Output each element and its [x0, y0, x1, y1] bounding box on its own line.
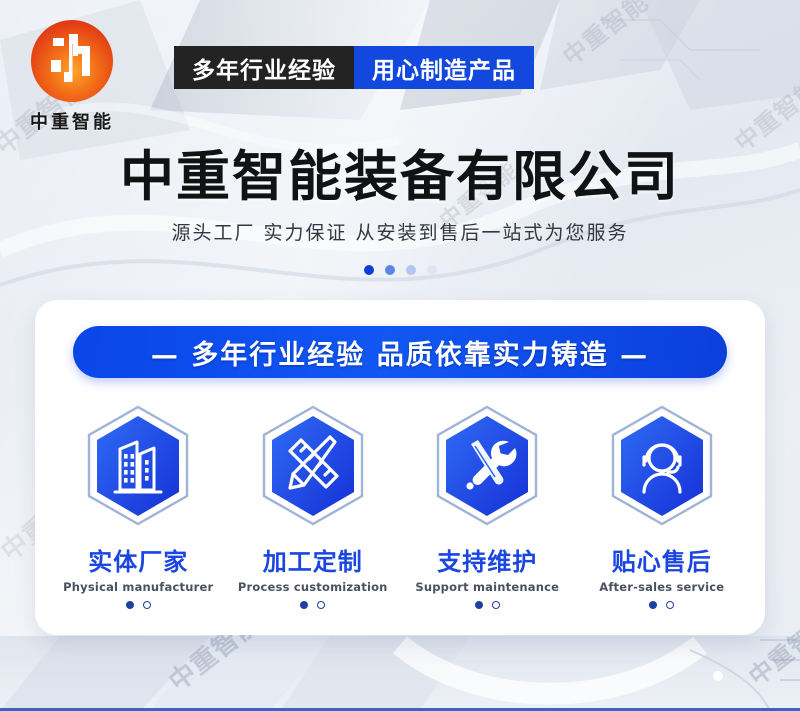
feature-icon-hex — [257, 404, 369, 530]
badge-experience[interactable]: 多年行业经验 — [174, 46, 354, 89]
feature-subtitle: Support maintenance — [402, 580, 572, 594]
features-card: — 多年行业经验 品质依靠实力铸造 — — [35, 300, 765, 635]
page-title: 中重智能装备有限公司 — [0, 132, 800, 211]
feature-icon-hex — [82, 404, 194, 530]
feature-icon-hex — [606, 404, 718, 530]
carousel-dot[interactable] — [427, 265, 437, 275]
feature-item[interactable]: 实体厂家 Physical manufacturer — [53, 404, 223, 609]
feature-dot-filled[interactable] — [649, 601, 657, 609]
feature-dot-open[interactable] — [666, 601, 674, 609]
logo-circle — [31, 20, 113, 102]
hero-subtitle: 源头工厂 实力保证 从安装到售后一站式为您服务 — [0, 218, 800, 245]
promo-banner-page: 中重智能 中重智能 中重智能 中重智能 中重智能 中重智能 中重智能 中重智能 … — [0, 0, 800, 711]
features-list: 实体厂家 Physical manufacturer — [51, 404, 749, 609]
company-logo[interactable]: 中重智能 — [18, 20, 126, 134]
feature-dot-open[interactable] — [143, 601, 151, 609]
hero-section: 中重智能 多年行业经验 用心制造产品 中重智能装备有限公司 源头工厂 实力保证 … — [0, 0, 800, 300]
feature-indicator[interactable] — [53, 601, 223, 609]
carousel-dot[interactable] — [406, 265, 416, 275]
office-building-icon — [82, 404, 194, 530]
feature-subtitle: Physical manufacturer — [53, 580, 223, 594]
feature-title: 贴心售后 — [577, 542, 747, 577]
section-banner[interactable]: — 多年行业经验 品质依靠实力铸造 — — [73, 326, 727, 378]
wrench-screwdriver-icon — [431, 404, 543, 530]
headset-person-icon — [606, 404, 718, 530]
ruler-pencil-icon — [257, 404, 369, 530]
feature-icon-hex — [431, 404, 543, 530]
feature-indicator[interactable] — [228, 601, 398, 609]
section-banner-text: — 多年行业经验 品质依靠实力铸造 — — [151, 333, 649, 372]
feature-item[interactable]: 支持维护 Support maintenance — [402, 404, 572, 609]
feature-dot-open[interactable] — [492, 601, 500, 609]
feature-item[interactable]: 贴心售后 After-sales service — [577, 404, 747, 609]
carousel-dot[interactable] — [385, 265, 395, 275]
carousel-indicator[interactable] — [0, 265, 800, 275]
feature-title: 支持维护 — [402, 542, 572, 577]
feature-subtitle: Process customization — [228, 580, 398, 594]
feature-indicator[interactable] — [577, 601, 747, 609]
logo-wordmark: 中重智能 — [18, 108, 126, 134]
feature-dot-filled[interactable] — [300, 601, 308, 609]
feature-dot-filled[interactable] — [126, 601, 134, 609]
feature-dot-open[interactable] — [317, 601, 325, 609]
feature-subtitle: After-sales service — [577, 580, 747, 594]
company-monogram-icon — [31, 20, 113, 102]
feature-indicator[interactable] — [402, 601, 572, 609]
badge-quality[interactable]: 用心制造产品 — [354, 46, 534, 89]
hero-badges: 多年行业经验 用心制造产品 — [174, 46, 534, 89]
feature-title: 加工定制 — [228, 542, 398, 577]
feature-item[interactable]: 加工定制 Process customization — [228, 404, 398, 609]
feature-title: 实体厂家 — [53, 542, 223, 577]
carousel-dot[interactable] — [364, 265, 374, 275]
feature-dot-filled[interactable] — [475, 601, 483, 609]
